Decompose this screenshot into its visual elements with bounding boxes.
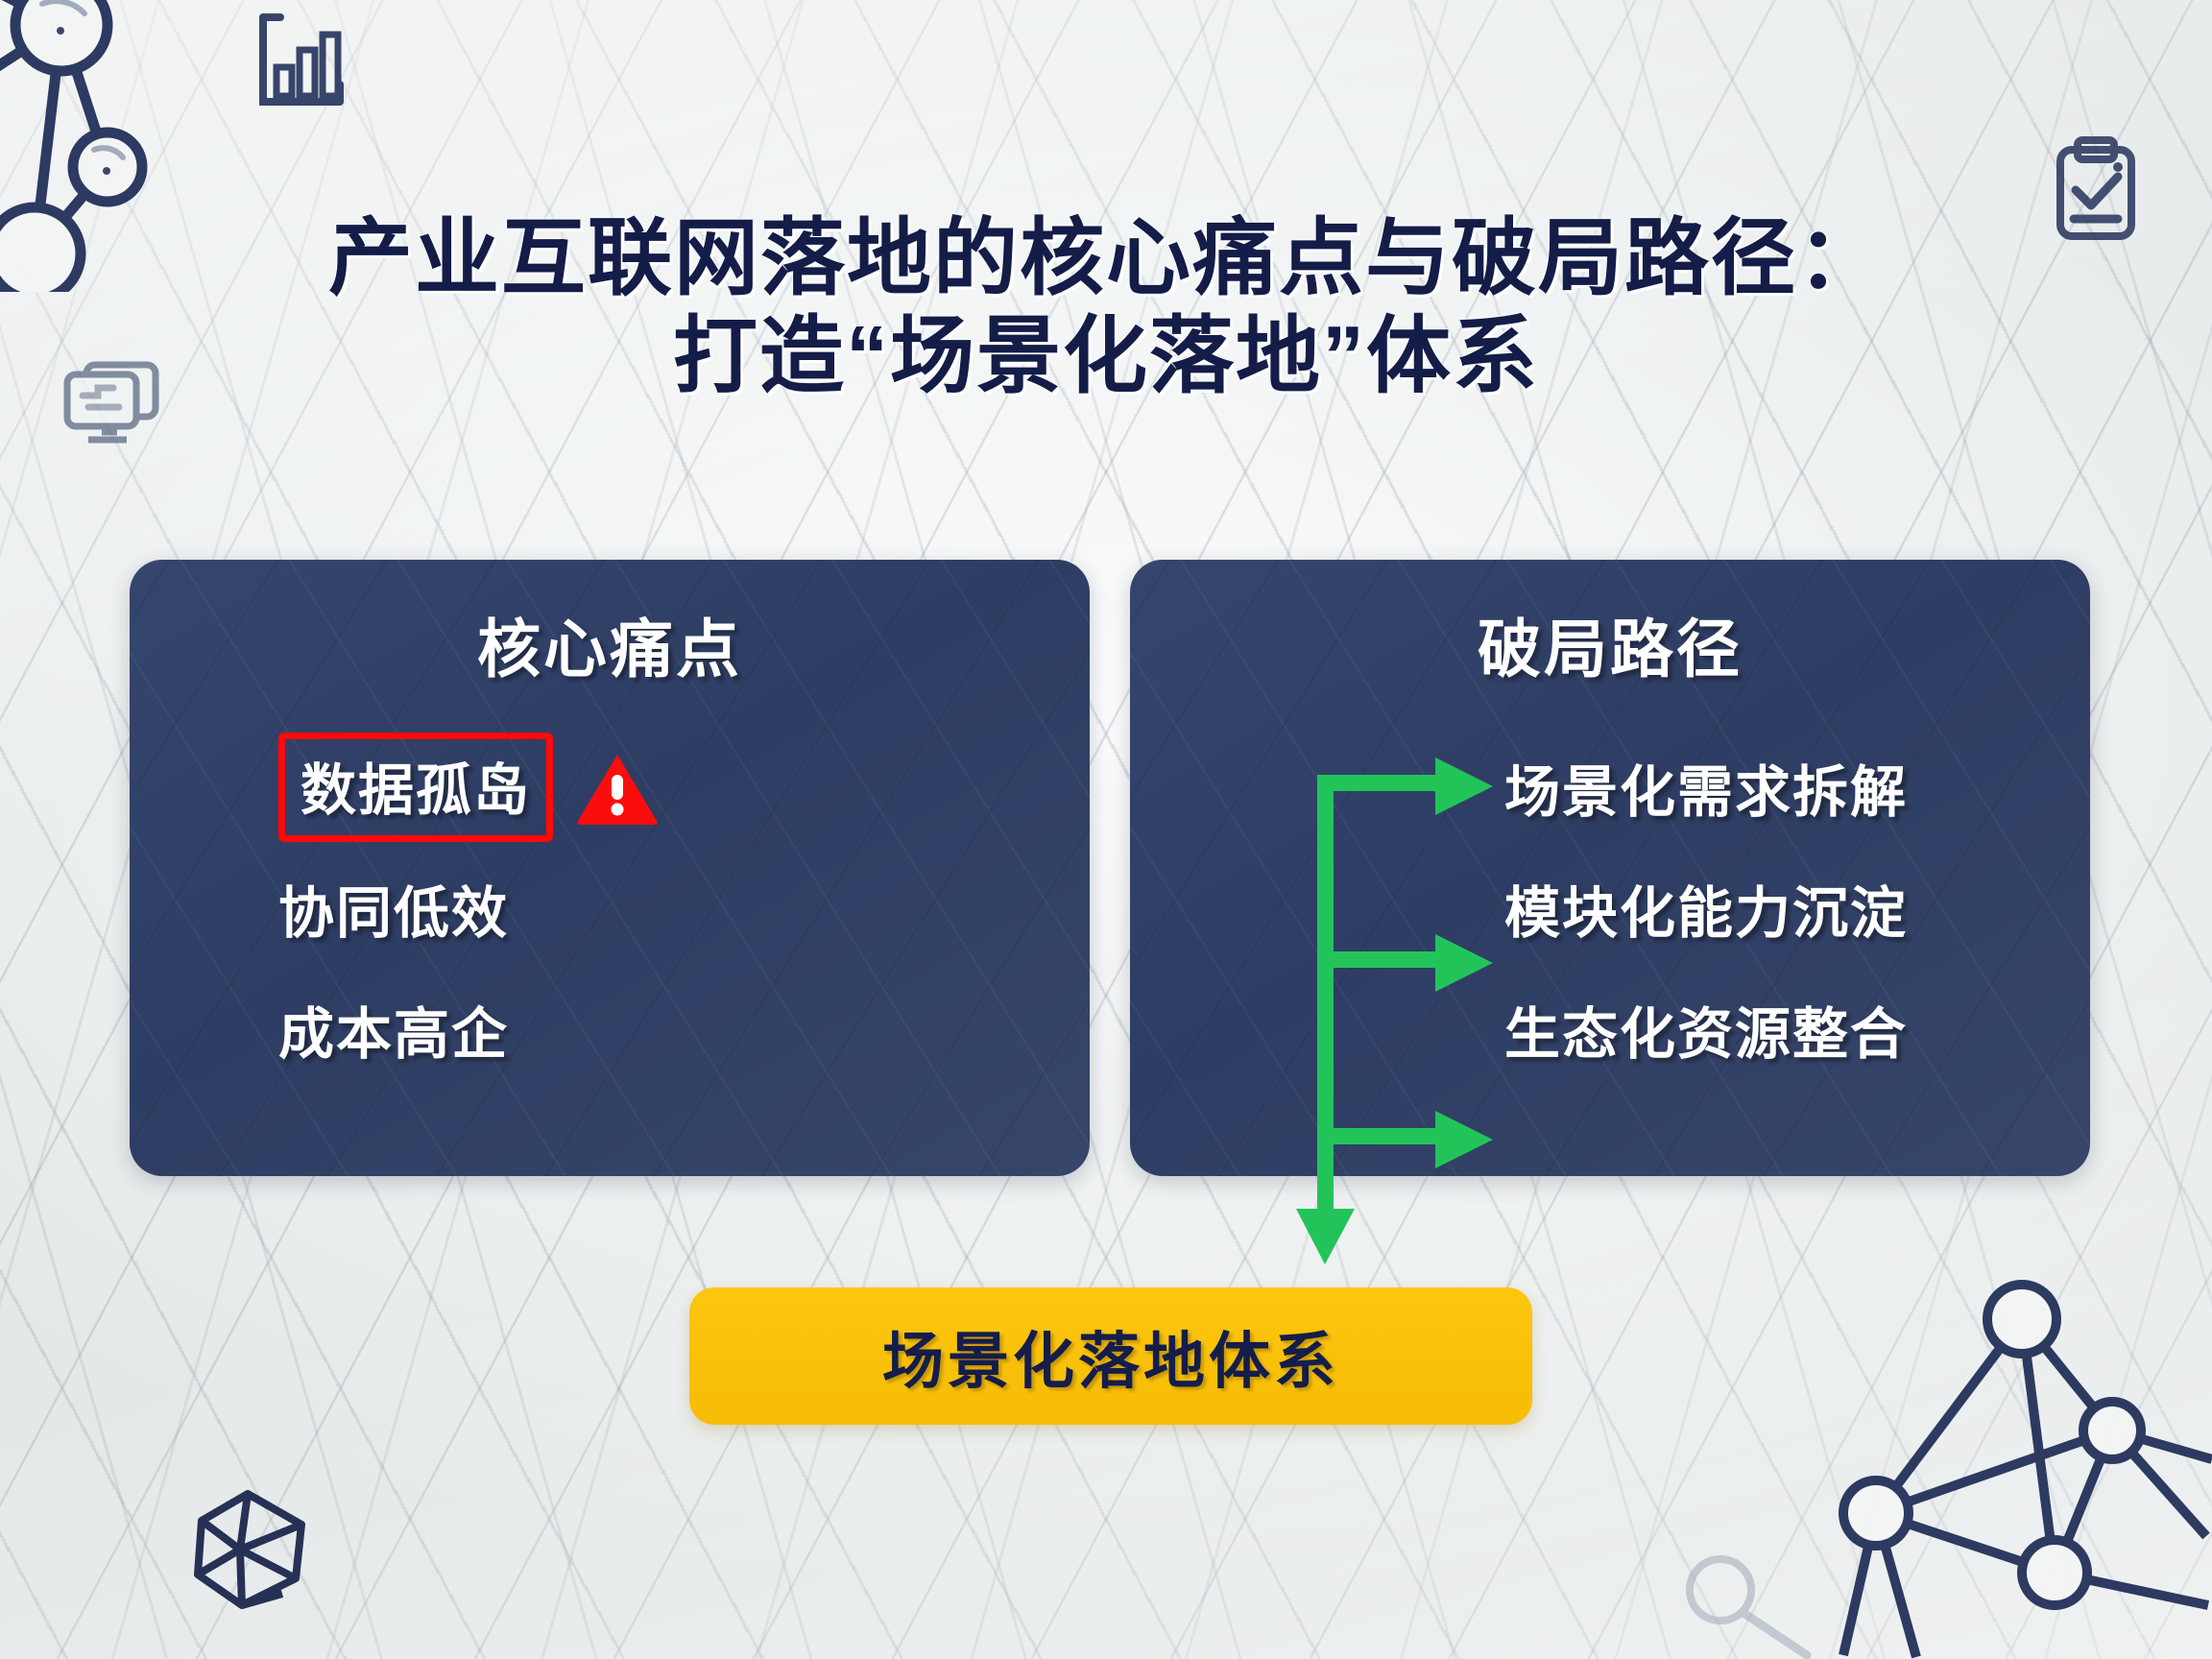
core-pain-points-card: 核心痛点 数据孤岛 协同低效 成本高企	[130, 560, 1090, 1176]
result-label: 场景化落地体系	[882, 1312, 1339, 1401]
slide-canvas: 产业互联网落地的核心痛点与破局路径： 打造“场景化落地”体系 核心痛点 数据孤岛…	[0, 0, 2212, 1659]
page-title: 产业互联网落地的核心痛点与破局路径： 打造“场景化落地”体系	[0, 209, 2212, 405]
pain-item-label: 协同低效	[278, 868, 509, 949]
pain-item-data-silo[interactable]: 数据孤岛	[278, 748, 659, 827]
core-pain-points-heading: 核心痛点	[130, 598, 1090, 690]
pain-item-high-cost[interactable]: 成本高企	[278, 990, 659, 1069]
result-banner[interactable]: 场景化落地体系	[689, 1287, 1532, 1425]
core-pain-points-list: 数据孤岛 协同低效 成本高企	[278, 748, 659, 1069]
down-arrow-icon	[1130, 560, 2090, 1270]
warning-triangle-icon	[576, 752, 659, 829]
pain-item-label: 成本高企	[278, 989, 509, 1070]
pain-item-label: 数据孤岛	[278, 733, 553, 842]
title-line-1: 产业互联网落地的核心痛点与破局路径：	[0, 209, 2212, 307]
pain-item-low-collaboration[interactable]: 协同低效	[278, 869, 659, 948]
title-line-2: 打造“场景化落地”体系	[0, 307, 2212, 405]
